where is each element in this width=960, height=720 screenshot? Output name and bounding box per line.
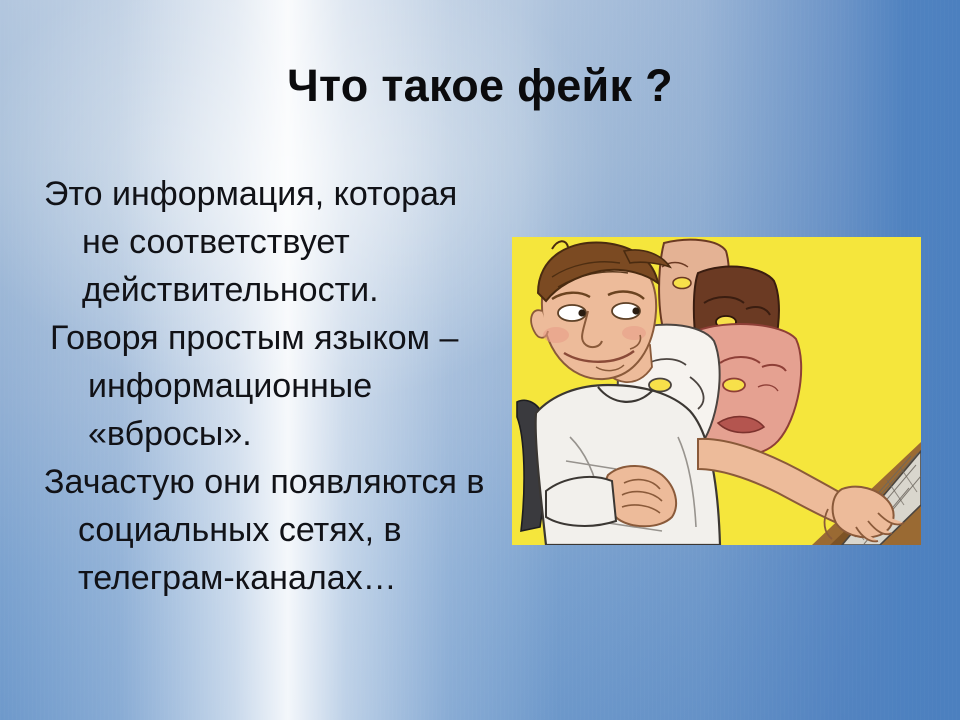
cheek xyxy=(543,327,569,343)
pupil xyxy=(632,307,639,314)
paragraph-definition: Это информация, которая не соответствует… xyxy=(44,170,496,314)
paragraph-line: не соответствует xyxy=(44,218,496,266)
paragraph-line: Зачастую они появляются в xyxy=(44,458,496,506)
paragraph-line: информационные xyxy=(50,362,496,410)
paragraph-line: действительности. xyxy=(44,266,496,314)
sleeve xyxy=(546,477,616,526)
illustration-artwork xyxy=(512,237,921,545)
paragraph-line: Говоря простым языком – xyxy=(50,314,496,362)
paragraph-line: телеграм-каналах… xyxy=(44,554,496,602)
paragraph-line: социальных сетях, в xyxy=(44,506,496,554)
cheek xyxy=(622,326,646,340)
illustration-masks-cartoon xyxy=(512,237,921,545)
slide-body-text: Это информация, которая не соответствует… xyxy=(44,170,496,602)
paragraph-line: Это информация, которая xyxy=(44,170,496,218)
paragraph-plain-language: Говоря простым языком – информационные «… xyxy=(44,314,496,458)
paragraph-where-appear: Зачастую они появляются в социальных сет… xyxy=(44,458,496,602)
pupil xyxy=(578,309,585,316)
paragraph-line: «вбросы». xyxy=(50,410,496,458)
presentation-slide: Что такое фейк ? Это информация, которая… xyxy=(0,0,960,720)
slide-title: Что такое фейк ? xyxy=(0,62,960,109)
mask-eye xyxy=(673,278,691,289)
mask-eye xyxy=(723,379,745,392)
